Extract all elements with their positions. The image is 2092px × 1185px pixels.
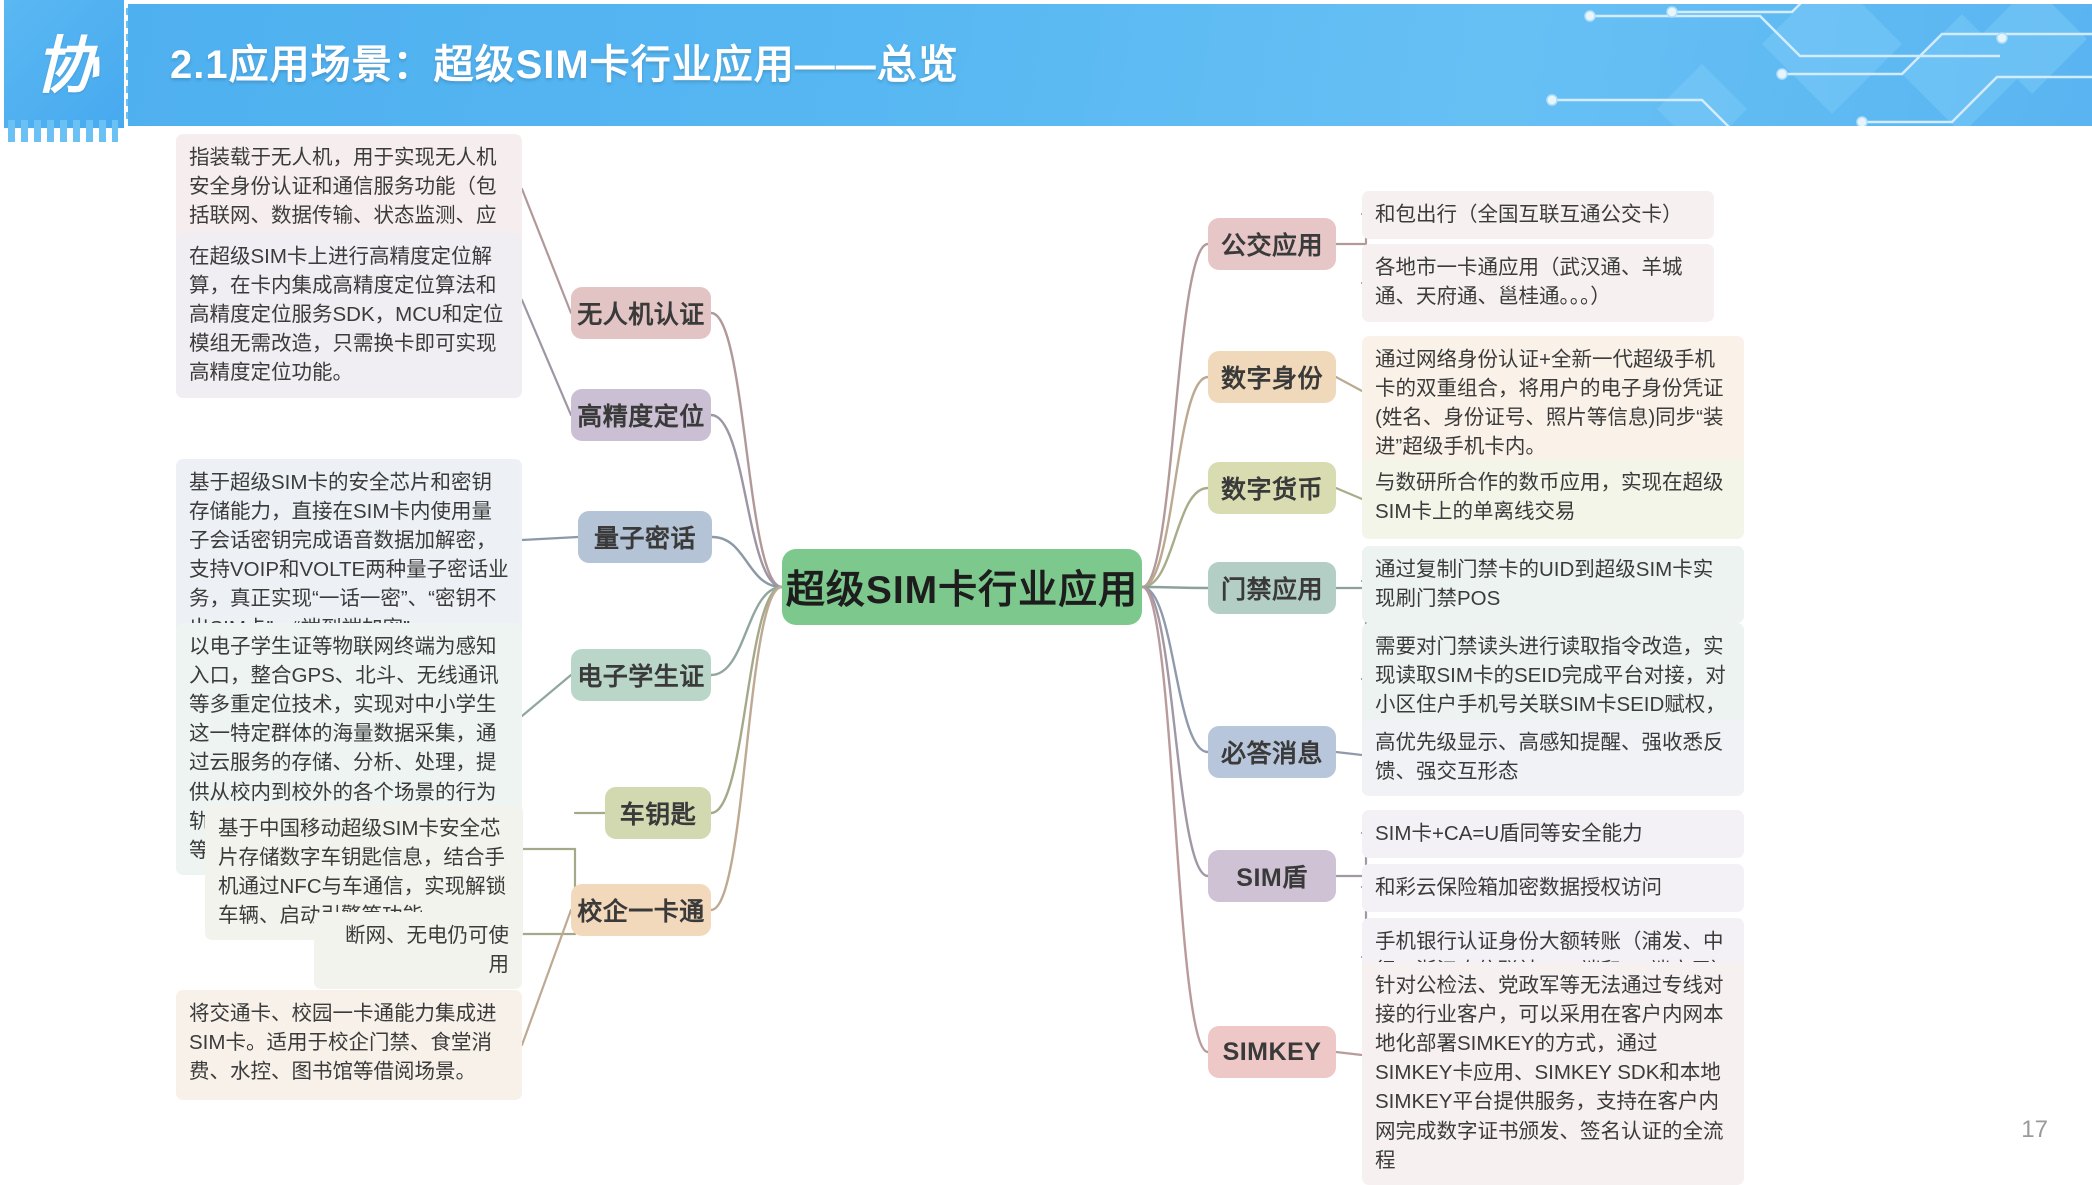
circuit-pattern-decoration <box>1532 4 2092 126</box>
branch-node-label: 量子密话 <box>594 519 696 555</box>
branch-node-5-left[interactable]: 车钥匙 <box>605 787 711 839</box>
branch-node-2-right[interactable]: 数字身份 <box>1208 351 1336 403</box>
branch-node-4-left[interactable]: 电子学生证 <box>571 649 711 701</box>
branch-node-7-right[interactable]: SIMKEY <box>1208 1026 1336 1078</box>
slide-header: 协 <box>0 0 2092 128</box>
branch-detail-6-1-left: 将交通卡、校园一卡通能力集成进SIM卡。适用于校企门禁、食堂消费、水控、图书馆等… <box>176 990 522 1100</box>
branch-node-label: 公交应用 <box>1221 226 1323 262</box>
branch-node-1-left[interactable]: 无人机认证 <box>571 287 711 339</box>
branch-node-label: 数字身份 <box>1221 359 1323 395</box>
center-node[interactable]: 超级SIM卡行业应用 <box>782 549 1142 625</box>
branch-node-label: 数字货币 <box>1221 470 1323 506</box>
mindmap-canvas: 超级SIM卡行业应用 无人机认证指装载于无人机，用于实现无人机安全身份认证和通信… <box>0 128 2092 1166</box>
brand-logo-icon: 协 <box>4 10 124 110</box>
branch-node-label: 必答消息 <box>1221 734 1323 770</box>
branch-node-label: 车钥匙 <box>620 795 697 831</box>
page-title: 2.1应用场景：超级SIM卡行业应用——总览 <box>170 32 959 90</box>
branch-detail-2-1-left: 在超级SIM卡上进行高精度定位解算，在卡内集成高精度定位算法和高精度定位服务SD… <box>176 233 522 398</box>
branch-node-6-right[interactable]: SIM盾 <box>1208 850 1336 902</box>
page-number: 17 <box>2021 1116 2048 1144</box>
branch-detail-7-1-right: 针对公检法、党政军等无法通过专线对接的行业客户，可以采用在客户内网本地化部署SI… <box>1362 962 1744 1185</box>
branch-node-1-right[interactable]: 公交应用 <box>1208 218 1336 270</box>
branch-detail-2-1-right: 通过网络身份认证+全新一代超级手机卡的双重组合，将用户的电子身份凭证(姓名、身份… <box>1362 336 1744 471</box>
branch-detail-5-2-left: 断网、无电仍可使用 <box>314 912 522 989</box>
branch-detail-1-2-right: 各地市一卡通应用（武汉通、羊城通、天府通、邕桂通。。。） <box>1362 244 1714 322</box>
branch-node-label: 高精度定位 <box>577 397 705 433</box>
branch-detail-1-1-right: 和包出行（全国互联互通公交卡） <box>1362 191 1714 239</box>
branch-node-label: SIM盾 <box>1236 858 1307 894</box>
branch-detail-6-2-right: 和彩云保险箱加密数据授权访问 <box>1362 864 1744 912</box>
brand-logo-tile: 协 <box>4 0 124 128</box>
branch-node-label: 电子学生证 <box>577 657 705 693</box>
title-band: 2.1应用场景：超级SIM卡行业应用——总览 <box>128 4 2092 126</box>
branch-node-label: 校企一卡通 <box>577 892 705 928</box>
branch-node-5-right[interactable]: 必答消息 <box>1208 726 1336 778</box>
branch-node-4-right[interactable]: 门禁应用 <box>1208 562 1336 614</box>
branch-node-label: 无人机认证 <box>577 295 705 331</box>
branch-detail-6-1-right: SIM卡+CA=U盾同等安全能力 <box>1362 810 1744 858</box>
branch-detail-3-1-right: 与数研所合作的数币应用，实现在超级SIM卡上的单离线交易 <box>1362 459 1744 539</box>
branch-node-6-left[interactable]: 校企一卡通 <box>571 884 711 936</box>
branch-detail-5-1-right: 高优先级显示、高感知提醒、强收悉反馈、强交互形态 <box>1362 719 1744 796</box>
branch-node-3-left[interactable]: 量子密话 <box>578 511 712 563</box>
branch-node-2-left[interactable]: 高精度定位 <box>571 389 711 441</box>
branch-node-label: 门禁应用 <box>1221 570 1323 606</box>
branch-node-label: SIMKEY <box>1223 1038 1322 1067</box>
branch-node-3-right[interactable]: 数字货币 <box>1208 462 1336 514</box>
branch-detail-4-1-right: 通过复制门禁卡的UID到超级SIM卡实现刷门禁POS <box>1362 546 1744 623</box>
